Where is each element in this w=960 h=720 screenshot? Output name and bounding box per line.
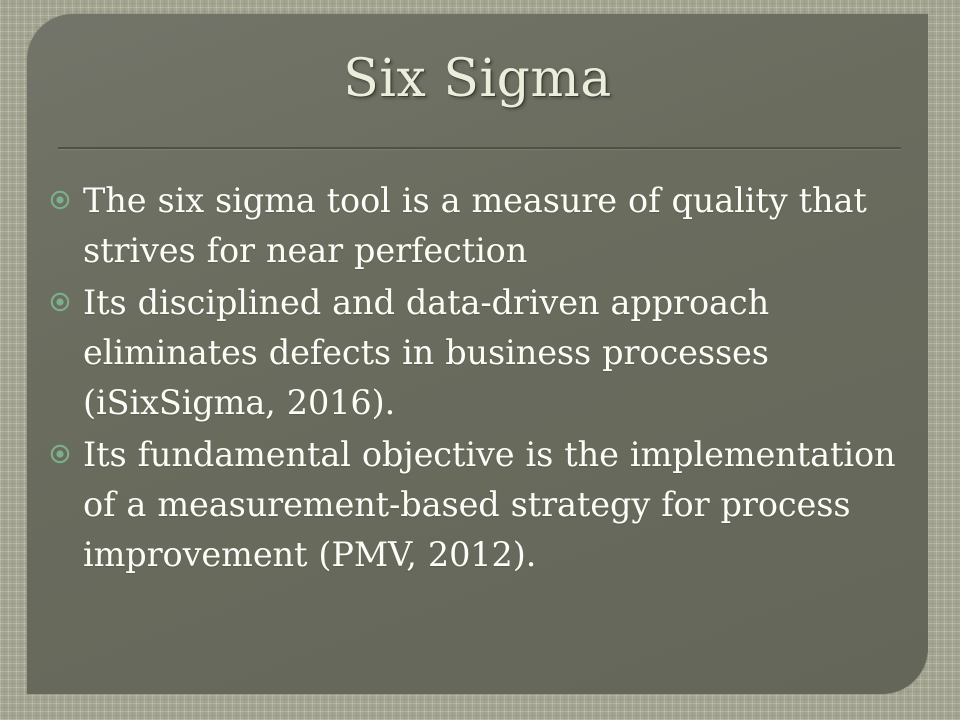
fisheye-bullet-icon	[50, 176, 83, 210]
list-item-label: The six sigma tool is a measure of quali…	[83, 176, 912, 276]
presentation-slide: Six Sigma The six sigma tool is a measur…	[0, 0, 960, 720]
list-item-label: Its fundamental objective is the impleme…	[83, 430, 912, 580]
slide-title-placeholder[interactable]: Six Sigma	[27, 52, 928, 107]
list-item[interactable]: Its fundamental objective is the impleme…	[50, 430, 912, 580]
title-divider	[58, 147, 901, 149]
slide-body-placeholder[interactable]: The six sigma tool is a measure of quali…	[50, 176, 912, 582]
fisheye-bullet-icon	[50, 430, 83, 464]
page-title: Six Sigma	[343, 52, 611, 107]
list-item[interactable]: The six sigma tool is a measure of quali…	[50, 176, 912, 276]
fisheye-bullet-icon	[50, 278, 83, 312]
list-item-label: Its disciplined and data-driven approach…	[83, 278, 912, 428]
list-item[interactable]: Its disciplined and data-driven approach…	[50, 278, 912, 428]
